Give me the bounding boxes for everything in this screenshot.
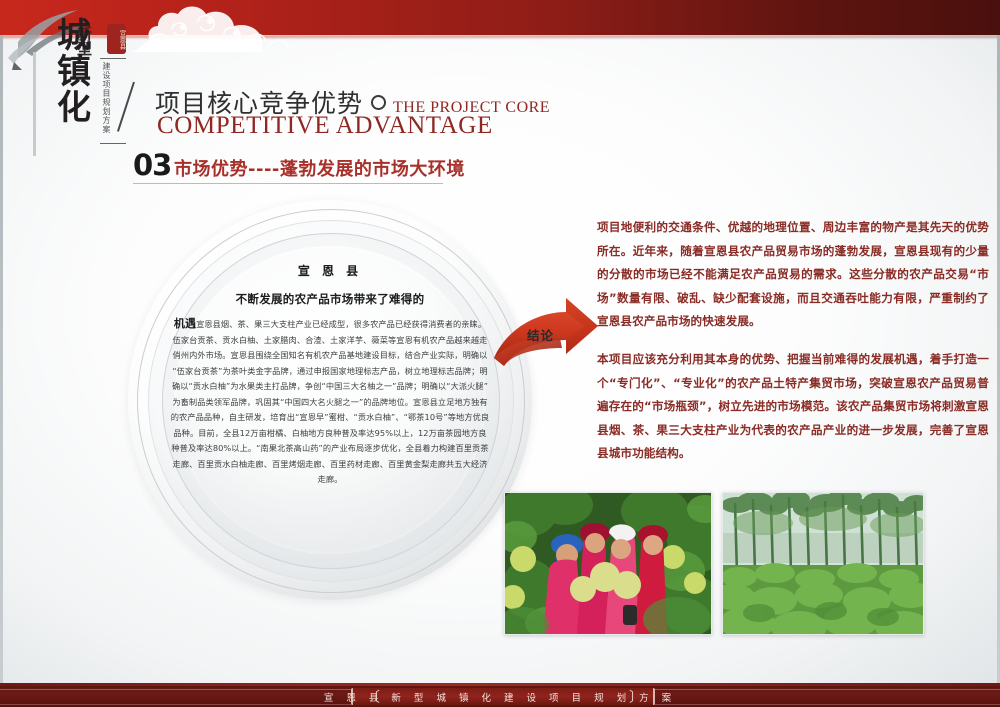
- circle-bullet-icon: [371, 95, 386, 110]
- disc-body-text: 宣恩县烟、茶、果三大支柱产业已经成型，很多农产品已经获得消费者的亲睐。伍家台贡茶…: [171, 319, 489, 484]
- slide-canvas: 新型 城镇化 宣恩县 建设项目规划方案 项目核心竞争优势THE PROJECT …: [0, 0, 1000, 707]
- footer-text: 宣 恩 县 新 型 城 镇 化 建 设 项 目 规 划 方 案: [0, 690, 1000, 704]
- photo-tea-tobacco-field: [722, 492, 924, 635]
- conclusion-paragraph-1: 项目地便利的交通条件、优越的地理位置、周边丰富的物产是其先天的优势所在。近年来，…: [597, 216, 989, 334]
- page-title-en-big: COMPETITIVE ADVANTAGE: [157, 112, 493, 140]
- slide-edge-left: [0, 35, 3, 683]
- disc-body: 机遇宣恩县烟、茶、果三大支柱产业已经成型，很多农产品已经获得消费者的亲睐。伍家台…: [170, 316, 490, 488]
- top-banner: [0, 0, 1000, 35]
- logo-divider-bottom: [100, 143, 126, 144]
- section-number: 03: [133, 148, 171, 182]
- brand-logo: 新型 城镇化 宣恩县 建设项目规划方案: [0, 0, 135, 160]
- photo-pomelo-harvest: [504, 492, 712, 635]
- top-banner-shadow: [0, 35, 1000, 38]
- section-divider: [133, 183, 443, 184]
- disc-text-block: 宣 恩 县 不断发展的农产品市场带来了难得的 机遇宣恩县烟、茶、果三大支柱产业已…: [170, 258, 490, 546]
- logo-vertical-caption: 建设项目规划方案: [101, 62, 112, 134]
- disc-lead: 不断发展的农产品市场带来了难得的: [170, 291, 490, 307]
- logo-divider-top: [100, 58, 126, 59]
- conclusion-arrow-label: 结论: [527, 325, 554, 344]
- disc-title: 宣 恩 县: [170, 262, 490, 279]
- circular-content-disc: 宣 恩 县 不断发展的农产品市场带来了难得的 机遇宣恩县烟、茶、果三大支柱产业已…: [128, 200, 538, 600]
- section-title: 市场优势----蓬勃发展的市场大环境: [174, 155, 465, 181]
- disc-keyword: 机遇: [174, 317, 196, 330]
- conclusion-paragraph-2: 本项目应该充分利用其本身的优势、把握当前难得的发展机遇，着手打造一个“专门化”、…: [597, 348, 989, 466]
- logo-title: 城镇化: [44, 18, 104, 126]
- logo-seal: 宣恩县: [107, 24, 126, 54]
